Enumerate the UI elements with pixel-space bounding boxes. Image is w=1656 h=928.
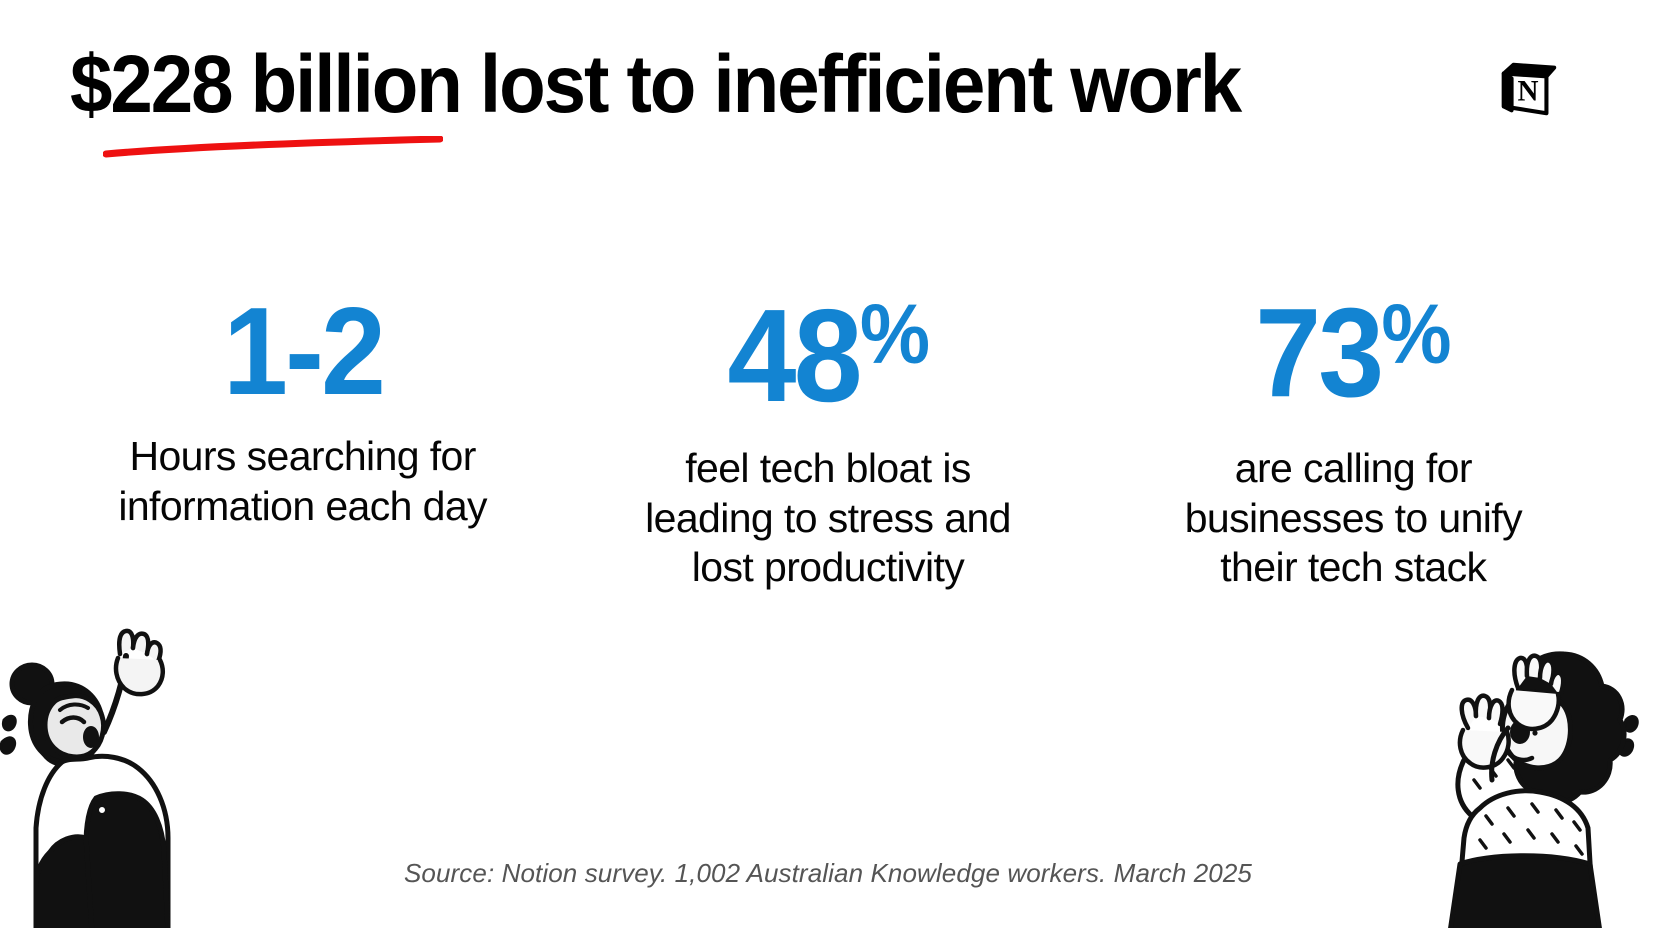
headline-block: $228 billion lost to inefficient work: [70, 44, 1370, 126]
stat-value: 73: [1256, 290, 1382, 416]
stats-row: 1-2 Hours searching for information each…: [0, 290, 1656, 593]
stat-caption: are calling for businesses to unify thei…: [1143, 444, 1563, 593]
notion-logo-letter: N: [1518, 76, 1539, 108]
red-hand-drawn-underline: [103, 136, 443, 158]
stat-unit: %: [860, 292, 929, 376]
stat-figure: 73%: [1256, 290, 1451, 416]
confused-person-right-illustration: [1368, 602, 1648, 928]
stat-hours-searching: 1-2 Hours searching for information each…: [40, 290, 565, 531]
page-title: $228 billion lost to inefficient work: [70, 44, 1279, 126]
stat-value: 48: [727, 290, 859, 422]
stat-caption: feel tech bloat is leading to stress and…: [618, 444, 1038, 593]
stat-figure: 1-2: [223, 290, 383, 414]
stat-unit: %: [1382, 292, 1451, 376]
stat-caption: Hours searching for information each day: [93, 432, 513, 531]
infographic-slide: $228 billion lost to inefficient work N …: [0, 0, 1656, 928]
stat-figure: 48%: [727, 290, 929, 422]
notion-cube-logo: N: [1498, 58, 1560, 120]
stressed-person-left-illustration: [0, 602, 224, 928]
stat-tech-bloat: 48% feel tech bloat is leading to stress…: [565, 290, 1090, 593]
stat-unify-tech-stack: 73% are calling for businesses to unify …: [1091, 290, 1616, 593]
stat-value: 1-2: [223, 290, 383, 414]
